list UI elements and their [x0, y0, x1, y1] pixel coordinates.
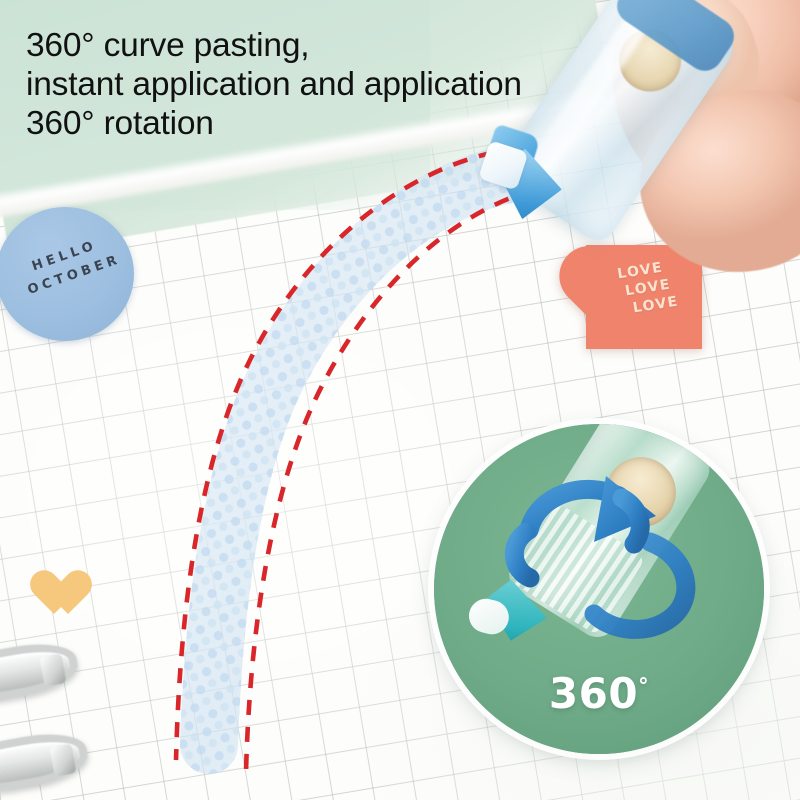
inset-360-label: 360°	[434, 669, 764, 718]
product-infographic: HELLO OCTOBER LOVE LOVE LOVE	[0, 0, 800, 800]
headline-line-3: 360° rotation	[26, 104, 686, 143]
hello-october-sticker-text: HELLO OCTOBER	[4, 227, 131, 306]
headline-line-2: instant application and application	[26, 65, 686, 104]
love-heart-text: LOVE LOVE LOVE	[616, 257, 680, 319]
hello-october-sticker: HELLO OCTOBER	[0, 207, 134, 341]
mini-heart-shape	[42, 570, 94, 616]
mini-heart-sticker	[42, 570, 94, 616]
rotation-detail-inset: 360°	[434, 424, 764, 754]
degree-symbol: °	[638, 674, 649, 698]
headline-text: 360° curve pasting, instant application …	[26, 26, 686, 143]
headline-line-1: 360° curve pasting,	[26, 26, 686, 65]
inset-360-number: 360	[549, 669, 638, 718]
